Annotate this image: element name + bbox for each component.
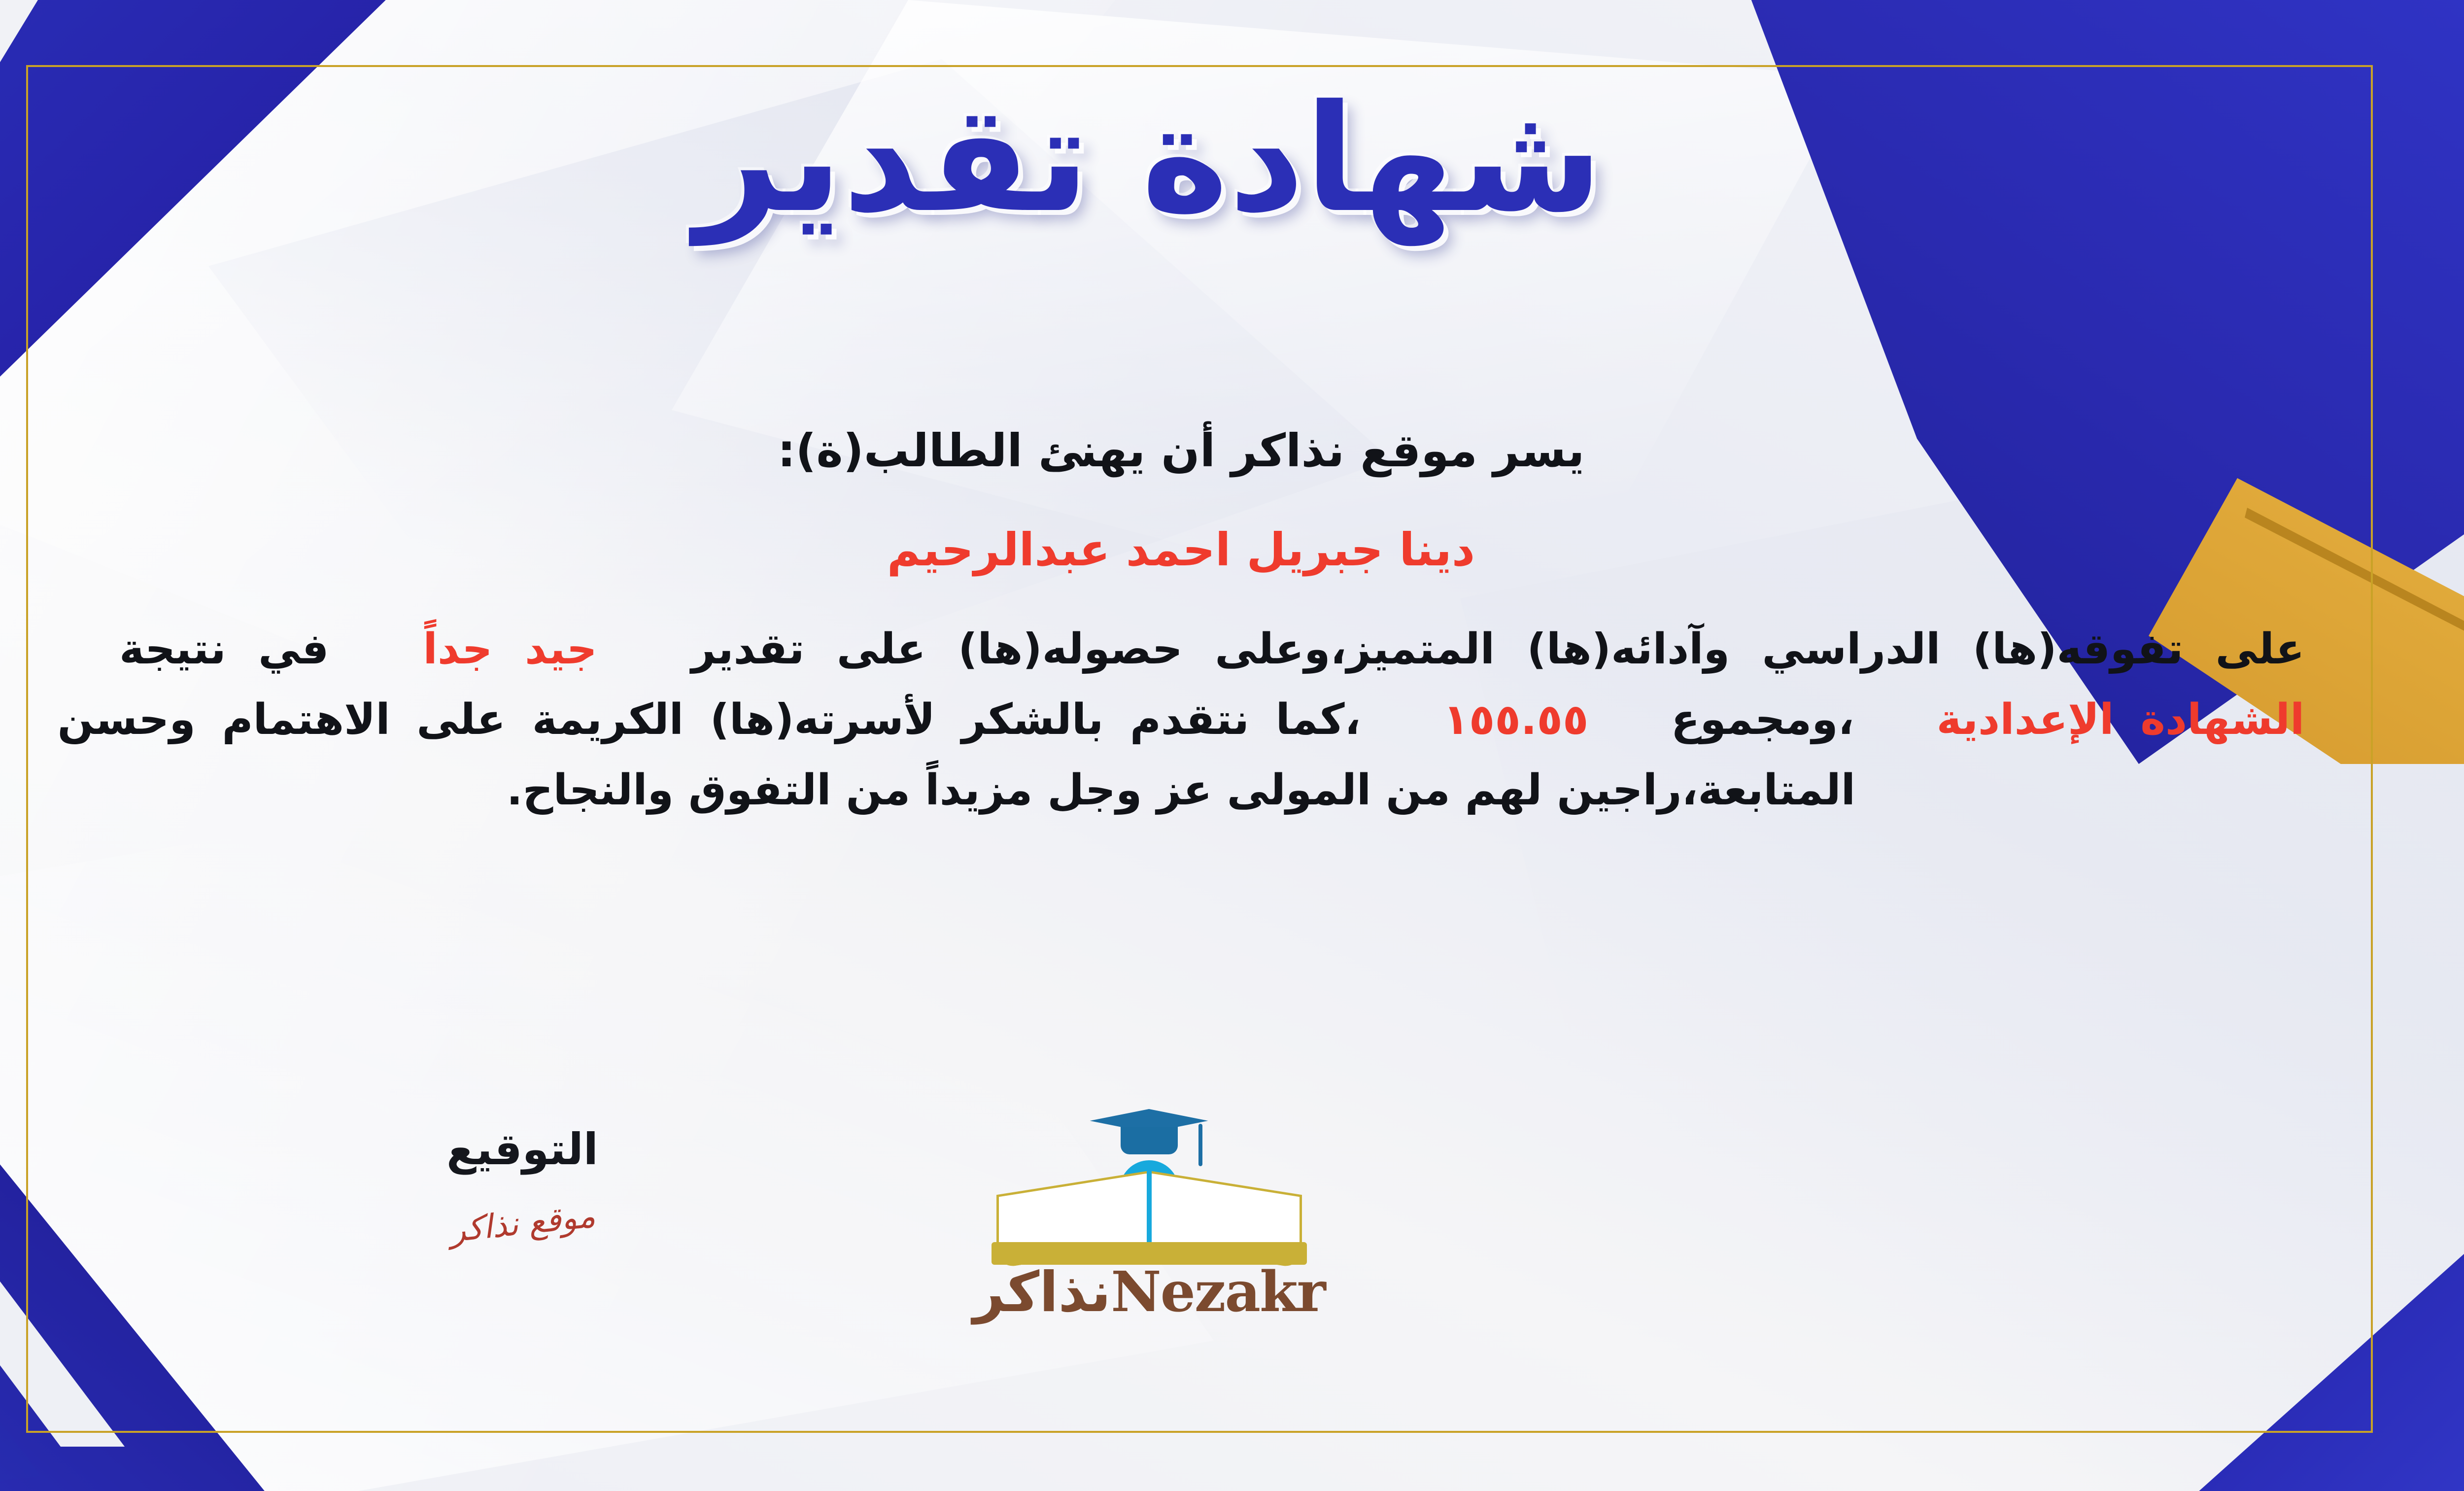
certificate-body: يسر موقع نذاكر أن يهنئ الطالب(ة): دينا ج… — [46, 414, 2316, 825]
signature-mark: موقع نذاكر — [448, 1197, 597, 1250]
citation-part-3: ،ومجموع — [1671, 695, 1854, 744]
open-book-icon — [996, 1183, 1302, 1257]
logo-wordmark-arabic: نذاكر — [973, 1260, 1111, 1324]
intro-line: يسر موقع نذاكر أن يهنئ الطالب(ة): — [46, 414, 2316, 487]
graduation-cap-icon — [1090, 1109, 1208, 1168]
logo-wordmark-latin: Nezakr — [1111, 1260, 1325, 1324]
signature-label: التوقيع — [335, 1124, 710, 1175]
certificate-page: شهادة تقدير يسر موقع نذاكر أن يهنئ الطال… — [0, 0, 2464, 1491]
corner-shape-blue — [0, 1052, 420, 1491]
corner-shape-blue — [2025, 1190, 2464, 1491]
cap-tassel — [1198, 1124, 1202, 1166]
corner-shape-chevron — [0, 1052, 420, 1491]
book-ribbon — [992, 1242, 1307, 1265]
citation-part-2: في نتيجة — [119, 624, 329, 674]
site-logo: Nezakrنذاكر — [962, 1109, 1336, 1324]
signature-block: التوقيع موقع نذاكر — [335, 1124, 710, 1242]
citation-part-1: على تفوقه(ها) الدراسي وآدائه(ها) المتميز… — [691, 624, 2305, 674]
corner-shape-notch — [0, 1052, 420, 1491]
corner-ornament-bottom-right — [2025, 1190, 2464, 1491]
corner-ornament-bottom-left — [0, 1052, 420, 1491]
total-score: ١٥٥.٥٥ — [1443, 695, 1588, 744]
certificate-title: شهادة تقدير — [0, 74, 2464, 244]
exam-name: الشهادة الإعدادية — [1937, 695, 2305, 744]
citation-paragraph: على تفوقه(ها) الدراسي وآدائه(ها) المتميز… — [58, 614, 2305, 825]
cap-base — [1121, 1127, 1178, 1154]
logo-mark — [992, 1109, 1307, 1257]
grade-value: جيد جداً — [423, 624, 597, 674]
student-name: دينا جبريل احمد عبدالرحيم — [46, 513, 2316, 587]
logo-wordmark: Nezakrنذاكر — [962, 1260, 1336, 1324]
